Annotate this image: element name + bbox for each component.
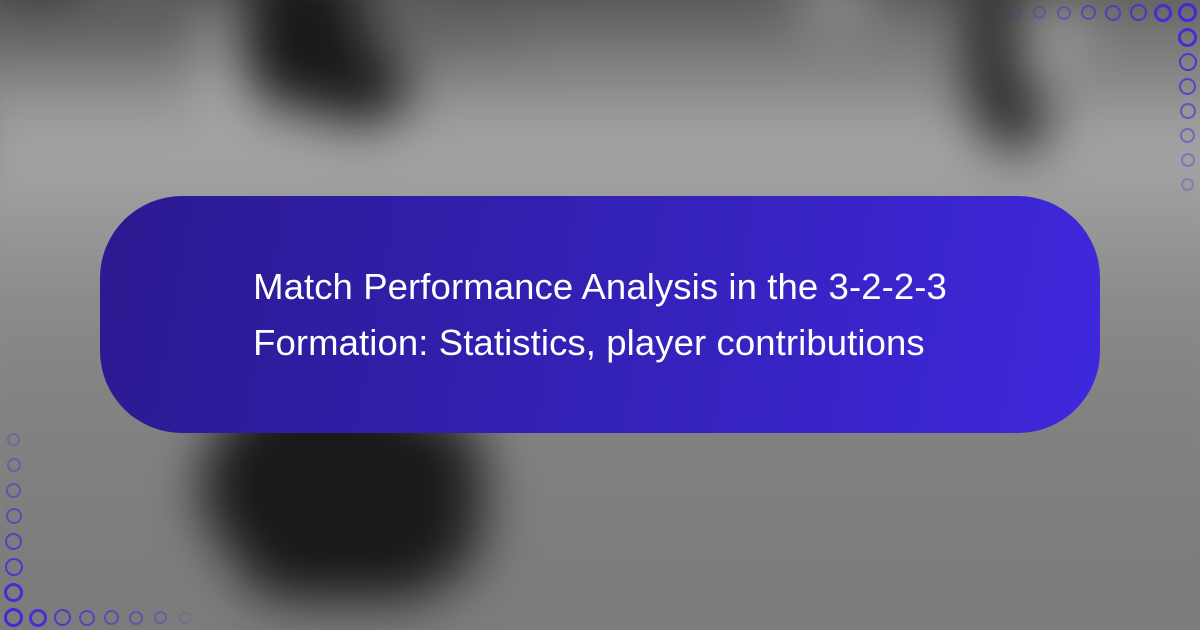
background-player-silhouette (410, 410, 486, 580)
background-highlight (208, 0, 242, 122)
ornament-dot (1009, 7, 1021, 19)
ornament-dot (1181, 153, 1195, 167)
ornament-dot (154, 611, 167, 624)
ornament-dot (4, 608, 23, 627)
ornament-dot (1179, 78, 1196, 95)
ornament-dot (1105, 5, 1121, 21)
ornament-dot (79, 610, 95, 626)
ornament-dot (1180, 103, 1196, 119)
ornament-dot (104, 610, 119, 625)
ornament-dot (1057, 6, 1071, 20)
ornament-dot (5, 533, 22, 550)
page-title: Match Performance Analysis in the 3-2-2-… (253, 259, 947, 371)
background-player-silhouette (986, 90, 1048, 152)
ornament-dot (29, 609, 47, 627)
ornament-dot (1179, 53, 1197, 71)
ornament-dot (129, 611, 143, 625)
ornament-dot (7, 458, 21, 472)
ornament-dot (6, 483, 21, 498)
title-card: Match Performance Analysis in the 3-2-2-… (100, 196, 1100, 433)
ornament-dot (7, 433, 20, 446)
ornament-dot (1180, 128, 1195, 143)
ornament-dot (1178, 3, 1197, 22)
ornament-dot (6, 508, 22, 524)
ornament-dot (1081, 5, 1096, 20)
ornament-dot (1181, 178, 1194, 191)
ornament-dot (54, 609, 71, 626)
background-barrier (540, 0, 800, 40)
ornament-dot (1130, 4, 1147, 21)
ornament-dot (4, 583, 23, 602)
og-image-card: Match Performance Analysis in the 3-2-2-… (0, 0, 1200, 630)
ornament-dot (1178, 28, 1197, 47)
ornament-dot (1154, 4, 1172, 22)
ornament-dot (5, 558, 23, 576)
background-player-silhouette (312, 52, 408, 124)
ornament-dot (1033, 6, 1046, 19)
ornament-dot (179, 612, 191, 624)
